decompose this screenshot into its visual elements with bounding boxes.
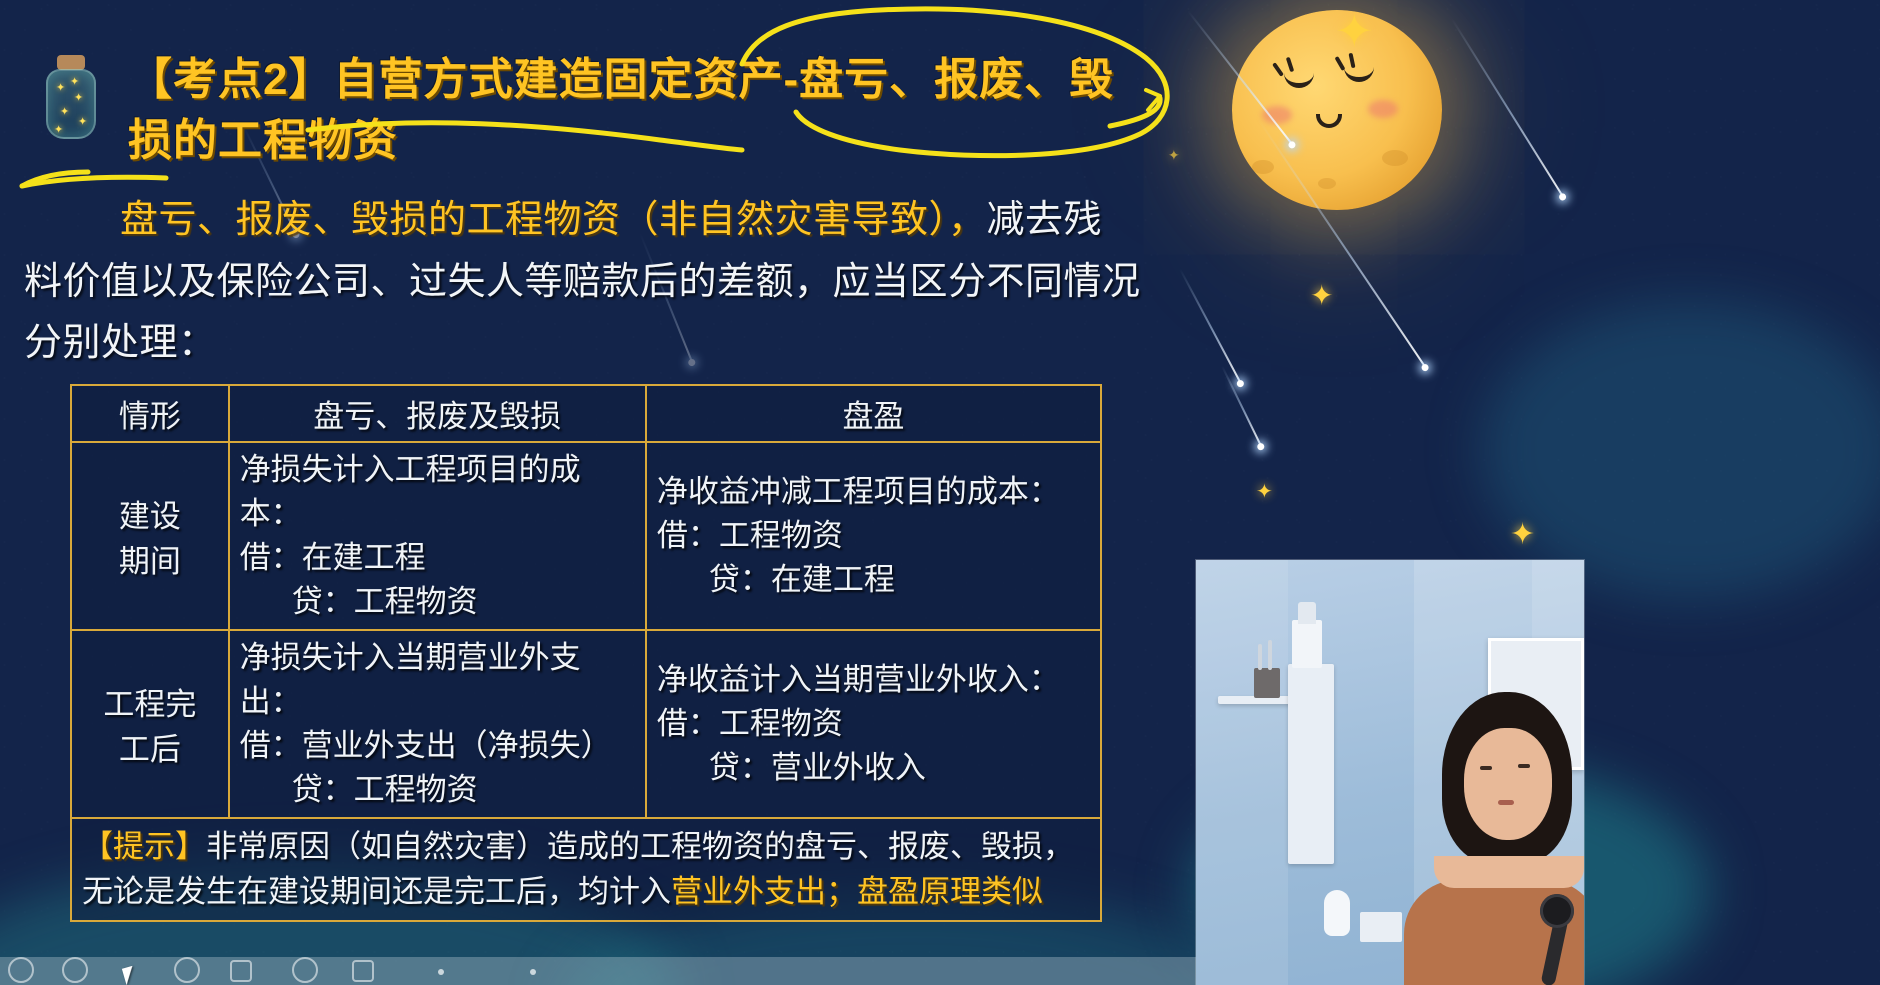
presenter-neck (1434, 856, 1584, 888)
concept-table: 情形 盘亏、报废及毁损 盘盈 建设 期间 净损失计入工程项目的成本： 借：在建工… (70, 384, 1102, 922)
tip-text-part1: 非常原因（如自然灾害）造成的工程物资的盘亏、报废、毁损， (206, 829, 1074, 864)
loss-credit: 贷：工程物资 (240, 580, 635, 624)
slide-paragraph: 盘亏、报废、毁损的工程物资（非自然灾害导致），减去残 料价值以及保险公司、过失人… (24, 190, 1154, 375)
tip-text-part2: 无论是发生在建设期间还是完工后，均计入 (82, 874, 671, 909)
moon-crater-icon (1252, 160, 1274, 174)
tip-line2: 无论是发生在建设期间还是完工后，均计入营业外支出；盘盈原理类似 (82, 869, 1090, 914)
star-icon: ✦ (1168, 148, 1180, 162)
wall-shelf-vertical (1288, 664, 1334, 864)
case-line1: 工程完 (82, 679, 218, 724)
taskbar-circle-icon[interactable] (174, 957, 200, 983)
loss-debit: 借：在建工程 (240, 536, 635, 580)
microphone-icon (1540, 894, 1574, 928)
decor-bottle (1292, 620, 1322, 668)
loss-credit: 贷：工程物资 (240, 768, 635, 812)
moon-crater-icon (1382, 150, 1408, 166)
table-row: 工程完 工后 净损失计入当期营业外支出： 借：营业外支出（净损失） 贷：工程物资… (71, 630, 1101, 818)
firefly-icon: ✦ (74, 91, 83, 104)
case-line2: 工后 (82, 724, 218, 769)
tip-line1: 【提示】非常原因（如自然灾害）造成的工程物资的盘亏、报废、毁损， (82, 824, 1090, 869)
decor-stick (1268, 640, 1272, 670)
gain-credit: 贷：营业外收入 (657, 746, 1090, 790)
tip-cell: 【提示】非常原因（如自然灾害）造成的工程物资的盘亏、报废、毁损， 无论是发生在建… (71, 818, 1101, 921)
case-line2: 期间 (82, 536, 218, 581)
decor-box (1254, 668, 1280, 698)
wall-panel (1196, 560, 1288, 985)
star-icon: ✦ (1335, 8, 1374, 54)
moon-lash-icon (1335, 56, 1346, 71)
firefly-jar-icon: ✦ ✦ ✦ ✦ ✦ ✦ (40, 55, 102, 141)
star-icon: ✦ (1510, 520, 1535, 550)
tip-highlight-1: 营业外支出； (671, 874, 857, 909)
gain-summary: 净收益冲减工程项目的成本： (657, 470, 1090, 514)
presenter-mouth (1498, 800, 1514, 805)
decor-stick (1258, 644, 1262, 670)
firefly-icon: ✦ (60, 105, 69, 118)
taskbar-square-icon[interactable] (352, 960, 374, 982)
cloud-decoration (1480, 300, 1880, 600)
mouse-cursor-icon (122, 966, 137, 985)
table-header-row: 情形 盘亏、报废及毁损 盘盈 (71, 385, 1101, 442)
paragraph-line3: 分别处理： (24, 322, 217, 364)
loss-summary: 净损失计入当期营业外支出： (240, 636, 635, 724)
paragraph-line2: 料价值以及保险公司、过失人等赔款后的差额，应当区分不同情况 (24, 261, 1141, 303)
firefly-icon: ✦ (70, 75, 79, 88)
row-case-completed: 工程完 工后 (71, 630, 229, 818)
star-icon: ✦ (1256, 482, 1273, 502)
moon-mouth-icon (1316, 114, 1342, 128)
row-loss-construction: 净损失计入工程项目的成本： 借：在建工程 贷：工程物资 (229, 442, 646, 630)
decor-vase (1324, 890, 1350, 936)
firefly-icon: ✦ (78, 115, 87, 128)
loss-summary: 净损失计入工程项目的成本： (240, 448, 635, 536)
row-loss-completed: 净损失计入当期营业外支出： 借：营业外支出（净损失） 贷：工程物资 (229, 630, 646, 818)
gain-debit: 借：工程物资 (657, 514, 1090, 558)
moon-crater-icon (1318, 178, 1336, 189)
firefly-icon: ✦ (54, 123, 63, 136)
presenter-video-overlay[interactable] (1196, 560, 1584, 985)
presenter-eye-left (1480, 766, 1492, 770)
tip-highlight-2: 盘盈原理类似 (857, 874, 1043, 909)
moon-blush-icon (1262, 106, 1292, 124)
taskbar[interactable] (0, 957, 1196, 985)
moon-eye-right-icon (1344, 66, 1374, 82)
paragraph-highlight: 盘亏、报废、毁损的工程物资（非自然灾害导致）， (120, 199, 987, 241)
taskbar-circle-icon[interactable] (8, 957, 34, 983)
taskbar-square-icon[interactable] (230, 960, 252, 982)
loss-debit: 借：营业外支出（净损失） (240, 724, 635, 768)
row-gain-construction: 净收益冲减工程项目的成本： 借：工程物资 贷：在建工程 (646, 442, 1101, 630)
case-line1: 建设 (82, 491, 218, 536)
moon-lash-icon (1286, 57, 1294, 73)
row-case-construction: 建设 期间 (71, 442, 229, 630)
table-header-gain: 盘盈 (646, 385, 1101, 442)
table-row: 建设 期间 净损失计入工程项目的成本： 借：在建工程 贷：工程物资 净收益冲减工… (71, 442, 1101, 630)
tip-label: 【提示】 (82, 829, 206, 864)
taskbar-dot-icon (438, 969, 444, 975)
taskbar-dot-icon (530, 969, 536, 975)
jar-lid-icon (57, 55, 85, 70)
page-title: 【考点2】自营方式建造固定资产-盘亏、报废、毁损的工程物资 (128, 50, 1148, 171)
presenter-eye-right (1518, 764, 1530, 768)
table-header-loss: 盘亏、报废及毁损 (229, 385, 646, 442)
decor-book (1360, 912, 1402, 942)
decor-bottle-cap (1298, 602, 1316, 624)
slide-stage: ✦ ✦ ✦ ✦ ✦ ✦ ✦ ✦ ✦ ✦ ✦ ✦ 【考点2】自营方式建造固定资产-… (0, 0, 1880, 985)
star-icon: ✦ (1310, 282, 1333, 310)
table-header-case: 情形 (71, 385, 229, 442)
moon-blush-icon (1368, 100, 1398, 118)
firefly-icon: ✦ (56, 81, 65, 94)
gain-debit: 借：工程物资 (657, 702, 1090, 746)
gain-credit: 贷：在建工程 (657, 558, 1090, 602)
moon-lash-icon (1272, 62, 1284, 77)
table-tip-row: 【提示】非常原因（如自然灾害）造成的工程物资的盘亏、报废、毁损， 无论是发生在建… (71, 818, 1101, 921)
moon-eye-left-icon (1284, 72, 1314, 88)
presenter-face (1464, 728, 1552, 840)
paragraph-line1-tail: 减去残 (987, 199, 1103, 241)
gain-summary: 净收益计入当期营业外收入： (657, 658, 1090, 702)
taskbar-circle-icon[interactable] (292, 957, 318, 983)
taskbar-circle-icon[interactable] (62, 957, 88, 983)
row-gain-completed: 净收益计入当期营业外收入： 借：工程物资 贷：营业外收入 (646, 630, 1101, 818)
